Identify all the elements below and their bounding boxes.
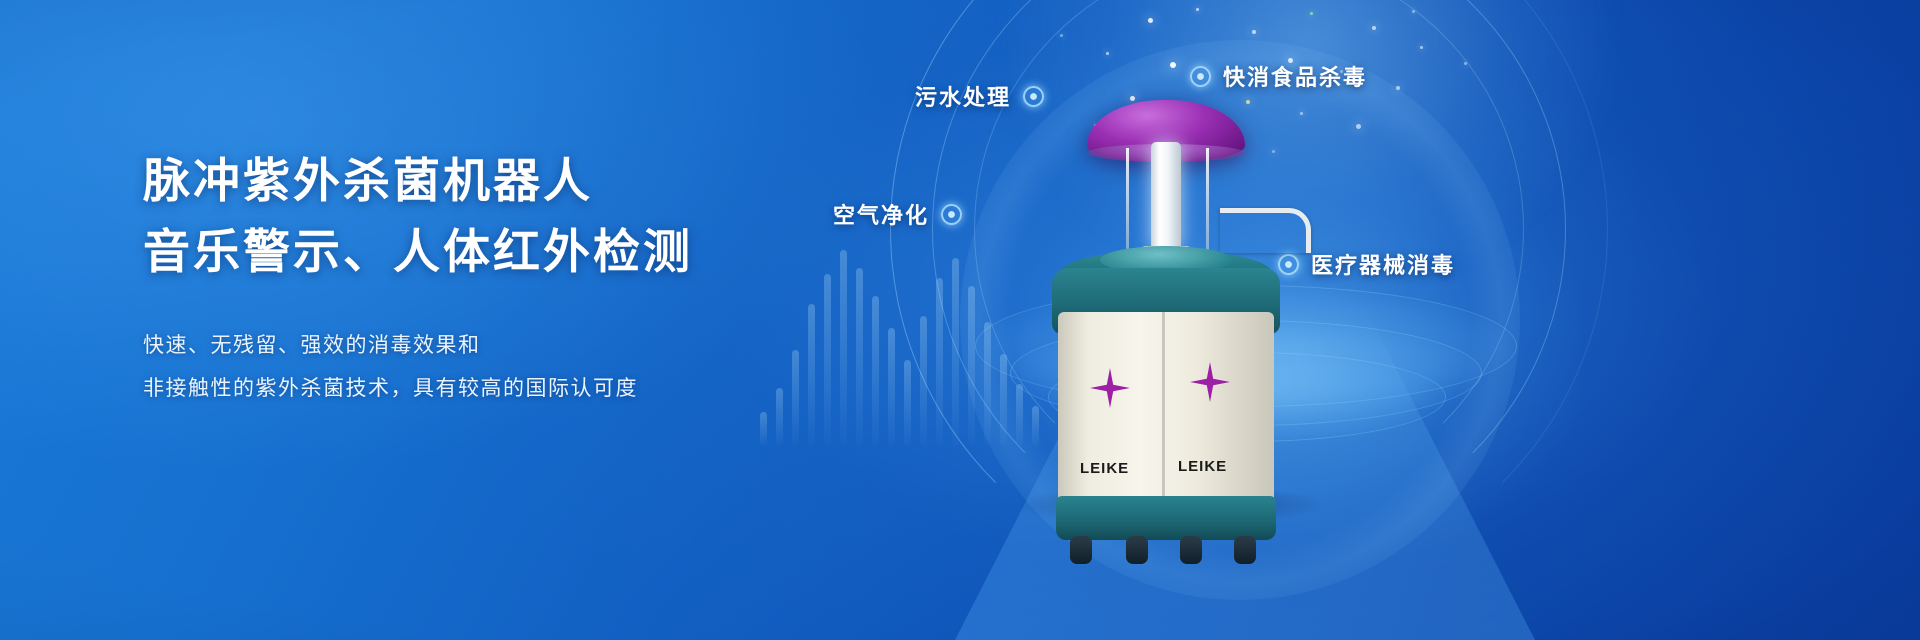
hero-banner: 脉冲紫外杀菌机器人 音乐警示、人体红外检测 快速、无残留、强效的消毒效果和 非接… (0, 0, 1920, 640)
particle-dot (1464, 62, 1467, 65)
robot-handle (1220, 208, 1311, 253)
caster-wheel (1234, 536, 1256, 564)
feature-label-waste-water[interactable]: 污水处理 (915, 80, 1044, 112)
ring-node-icon (941, 204, 962, 225)
feature-label-text: 污水处理 (915, 80, 1011, 112)
particle-dot (1372, 26, 1376, 30)
particle-dot (1252, 30, 1256, 34)
particle-dot (1420, 46, 1423, 49)
brand-logo-left: LEIKE (1080, 460, 1129, 477)
product-image-uv-robot: LEIKE LEIKE (1030, 100, 1300, 500)
particle-dot (1412, 10, 1415, 13)
page-title-line-1: 脉冲紫外杀菌机器人 (143, 150, 863, 215)
feature-label-air-purification[interactable]: 空气净化 (833, 198, 962, 230)
brand-logo-right: LEIKE (1178, 458, 1227, 475)
particle-dot (1060, 34, 1063, 37)
caster-wheel (1126, 536, 1148, 564)
caster-wheel (1070, 536, 1092, 564)
robot-lower-base (1056, 496, 1276, 540)
particle-dot (1196, 8, 1199, 11)
particle-dot (1310, 12, 1313, 15)
particle-dot (1356, 124, 1361, 129)
particle-dot (1300, 112, 1303, 115)
uv-lamp-tube (1151, 142, 1181, 250)
particle-dot (1170, 62, 1176, 68)
hero-subtitle-line-1: 快速、无残留、强效的消毒效果和 (143, 324, 863, 367)
feature-label-text: 空气净化 (833, 198, 929, 230)
caster-wheel (1180, 536, 1202, 564)
feature-label-text: 医疗器械消毒 (1311, 248, 1455, 280)
particle-dot (1396, 86, 1400, 90)
particle-dot (1148, 18, 1153, 23)
lamp-support-rod-left (1126, 148, 1129, 254)
lamp-support-rod-right (1206, 148, 1209, 254)
feature-label-fast-food-disinfection[interactable]: 快消食品杀毒 (1190, 60, 1367, 92)
page-title-line-2: 音乐警示、人体红外检测 (143, 221, 863, 286)
robot-body-seam (1162, 312, 1165, 502)
hero-copy: 脉冲紫外杀菌机器人 音乐警示、人体红外检测 快速、无残留、强效的消毒效果和 非接… (143, 150, 863, 410)
feature-label-text: 快消食品杀毒 (1223, 60, 1367, 92)
particle-dot (1106, 52, 1109, 55)
hero-subtitle-line-2: 非接触性的紫外杀菌技术，具有较高的国际认可度 (143, 367, 863, 410)
ring-node-icon (1190, 66, 1211, 87)
